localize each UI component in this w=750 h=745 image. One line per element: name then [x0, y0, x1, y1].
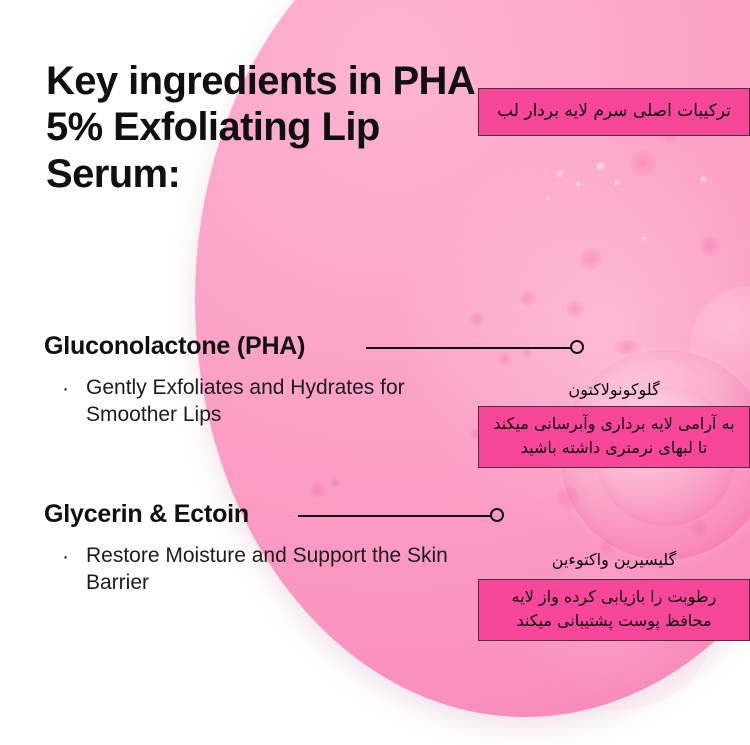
- bubble-icon: [690, 520, 708, 538]
- bubble-icon: [642, 236, 648, 242]
- bullet-icon: ·: [62, 544, 69, 571]
- bubble-icon: [576, 182, 582, 188]
- page-title: Key ingredients in PHA 5% Exfoliating Li…: [46, 58, 486, 197]
- bubble-icon: [700, 236, 720, 256]
- persian-label-gluconolactone: گلوکونولاکتون: [478, 380, 750, 399]
- bubble-icon: [612, 340, 642, 354]
- ingredient-description-text: Gently Exfoliates and Hydrates for Smoot…: [86, 376, 405, 426]
- connector-endpoint-circle-icon: [570, 340, 584, 354]
- bubble-icon: [470, 312, 484, 326]
- connector-stroke: [366, 347, 572, 349]
- connector-line-1: [366, 338, 584, 358]
- bubble-icon: [520, 290, 536, 306]
- infographic-canvas: Key ingredients in PHA 5% Exfoliating Li…: [0, 0, 750, 745]
- ingredient-title-glycerin-ectoin: Glycerin & Ectoin: [44, 500, 249, 529]
- ingredient-description-text: Restore Moisture and Support the Skin Ba…: [86, 544, 448, 594]
- bubble-icon: [596, 162, 607, 173]
- bubble-icon: [700, 176, 708, 184]
- bubble-icon: [546, 196, 551, 201]
- bubble-icon: [330, 478, 340, 488]
- connector-endpoint-circle-icon: [490, 508, 504, 522]
- connector-line-2: [298, 506, 504, 526]
- bubble-icon: [580, 248, 602, 270]
- bubble-icon: [310, 482, 326, 498]
- ingredient-title-gluconolactone: Gluconolactone (PHA): [44, 332, 305, 361]
- persian-label-glycerin-ectoin: گلیسیرین واکتوءین: [478, 550, 750, 569]
- bubble-icon: [556, 486, 580, 510]
- bubble-icon: [614, 180, 621, 187]
- bubble-icon: [630, 150, 656, 176]
- bubble-icon: [566, 300, 584, 318]
- persian-description-box-glycerin-ectoin: رطوبت را بازیابی کرده واز لایه محافظ پوس…: [478, 579, 750, 641]
- connector-stroke: [298, 515, 492, 517]
- bubble-icon: [556, 170, 565, 179]
- bullet-icon: ·: [62, 376, 69, 403]
- persian-headline-overlay: ترکیبات اصلی سرم لایه بردار لب: [478, 88, 750, 136]
- ingredient-description-glycerin-ectoin: · Restore Moisture and Support the Skin …: [86, 543, 456, 597]
- persian-description-box-gluconolactone: به آرامی لایه برداری وآبرسانی میکند تا ل…: [478, 406, 750, 468]
- ingredient-description-gluconolactone: · Gently Exfoliates and Hydrates for Smo…: [86, 375, 456, 429]
